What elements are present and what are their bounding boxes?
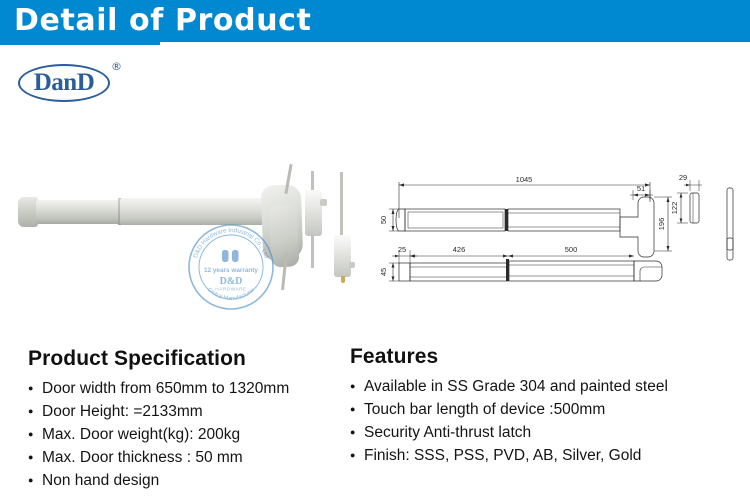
dim-label-29: 29 <box>679 173 687 182</box>
side-rod-bottom <box>727 238 733 260</box>
push-bar-end-cap <box>18 197 38 227</box>
dim-label-25: 25 <box>398 245 406 254</box>
features-list: Available in SS Grade 304 and painted st… <box>350 375 745 467</box>
registered-trademark-icon: ® <box>111 60 122 73</box>
specification-item: Door width from 650mm to 1320mm <box>28 377 348 400</box>
features-item: Finish: SSS, PSS, PVD, AB, Silver, Gold <box>350 444 745 467</box>
top-bar-outer <box>410 263 508 281</box>
front-bar-inner <box>508 209 620 231</box>
accessory-latch-tab-2 <box>349 262 355 268</box>
features-title: Features <box>350 345 745 369</box>
specification-item: Max. Door weight(kg): 200kg <box>28 423 348 446</box>
stamp-warranty-text: 12 years warranty <box>204 267 258 274</box>
dim-label-51: 51 <box>637 184 645 193</box>
logo-text: DanD <box>22 69 106 97</box>
accessory-top-rod-2 <box>340 172 343 236</box>
dim-label-500: 500 <box>565 245 578 254</box>
top-end-cap <box>399 263 410 281</box>
dim-label-1045: 1045 <box>516 175 533 184</box>
top-handle <box>634 261 662 281</box>
features-item: Security Anti-thrust latch <box>350 421 745 444</box>
header-accent-underline <box>0 42 160 45</box>
accessory-bottom-pin-2 <box>341 276 345 283</box>
top-bar-inner <box>509 261 634 281</box>
front-bar-outer-inner <box>408 212 503 228</box>
stamp-brand-sub-text: HARDWARE <box>215 287 246 292</box>
features-column: Features Available in SS Grade 304 and p… <box>350 345 745 467</box>
specification-list: Door width from 650mm to 1320mmDoor Heig… <box>28 377 348 492</box>
specification-title: Product Specification <box>28 347 348 371</box>
stamp-center-emblem-icon <box>222 250 239 262</box>
specification-column: Product Specification Door width from 65… <box>28 347 348 492</box>
dim-label-426: 426 <box>453 245 466 254</box>
dim-label-45: 45 <box>379 268 388 276</box>
watermark-stamp: D&D Hardware Industrial Co., Ltd Global … <box>186 222 276 312</box>
page-title: Detail of Product <box>14 3 312 39</box>
front-end-cap <box>396 209 405 231</box>
dim-label-196: 196 <box>657 218 666 231</box>
specification-item: Door Height: =2133mm <box>28 400 348 423</box>
front-bar-seam <box>505 209 508 231</box>
accessory-latch-tab-1 <box>320 199 327 206</box>
front-bar-outer <box>405 209 505 231</box>
accessory-latch-body-1 <box>305 190 322 236</box>
top-bar-seam <box>506 259 509 281</box>
push-bar-tube-outer <box>36 200 122 224</box>
technical-drawing: 1045 50 51 196 29 122 25 426 500 45 <box>372 160 750 300</box>
dim-label-50: 50 <box>379 216 388 224</box>
brand-logo: DanD ® <box>18 56 138 104</box>
accessory-latch-body-2 <box>334 235 351 277</box>
specification-item: Non hand design <box>28 469 348 492</box>
stamp-top-text: D&D Hardware Industrial Co., Ltd <box>192 227 270 259</box>
stamp-brand-text: D&D <box>220 276 243 287</box>
specification-item: Max. Door thickness : 50 mm <box>28 446 348 469</box>
features-item: Touch bar length of device :500mm <box>350 398 745 421</box>
push-bar-tube-inner <box>120 198 270 225</box>
dim-label-122: 122 <box>670 202 679 215</box>
features-item: Available in SS Grade 304 and painted st… <box>350 375 745 398</box>
side-plate-a <box>690 193 699 223</box>
front-handle <box>620 197 654 257</box>
accessory-bottom-rod-1 <box>311 234 314 268</box>
side-rod-top <box>727 188 733 250</box>
